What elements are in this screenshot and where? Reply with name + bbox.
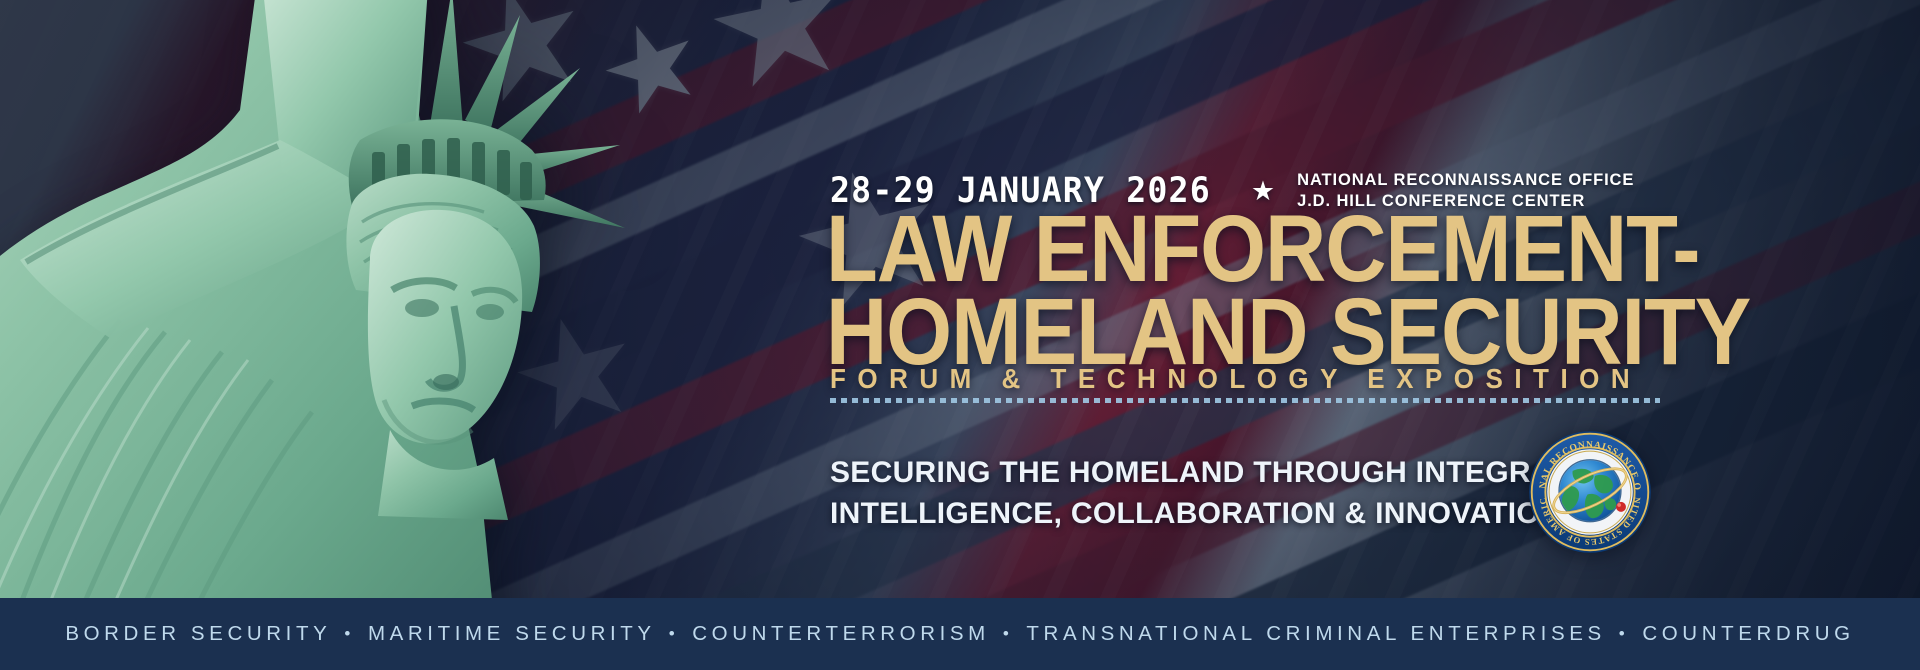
- event-tagline-line-2: INTELLIGENCE, COLLABORATION & INNOVATION: [830, 493, 1611, 534]
- event-banner: ★ ★ ★ ★ ★ ★: [0, 0, 1920, 670]
- event-tagline-line-1: SECURING THE HOMELAND THROUGH INTEGRATED: [830, 452, 1611, 493]
- topic-separator: •: [1619, 624, 1630, 644]
- topic-item: BORDER SECURITY: [65, 622, 331, 646]
- dotted-divider: [830, 398, 1660, 403]
- event-tagline: SECURING THE HOMELAND THROUGH INTEGRATED…: [830, 452, 1611, 535]
- nro-seal-logo: NATIONAL RECONNAISSANCE OFFICE UNITED ST…: [1528, 430, 1652, 554]
- banner-content: 28-29 JANUARY 2026 ★ NATIONAL RECONNAISS…: [830, 0, 1840, 598]
- event-subtitle: FORUM & TECHNOLOGY EXPOSITION: [830, 362, 1641, 395]
- event-title: LAW ENFORCEMENT- HOMELAND SECURITY: [826, 208, 1750, 374]
- topic-separator: •: [669, 624, 680, 644]
- topic-separator: •: [1003, 624, 1014, 644]
- topic-item: COUNTERTERRORISM: [692, 622, 990, 646]
- topic-item: COUNTERDRUG: [1642, 622, 1854, 646]
- topics-list: BORDER SECURITY • MARITIME SECURITY • CO…: [65, 622, 1854, 646]
- topic-item: TRANSNATIONAL CRIMINAL ENTERPRISES: [1026, 622, 1605, 646]
- topics-bar: BORDER SECURITY • MARITIME SECURITY • CO…: [0, 598, 1920, 670]
- topic-item: MARITIME SECURITY: [368, 622, 656, 646]
- statue-of-liberty-image: [0, 0, 640, 670]
- venue-line-1: NATIONAL RECONNAISSANCE OFFICE: [1297, 170, 1634, 191]
- topic-separator: •: [344, 624, 355, 644]
